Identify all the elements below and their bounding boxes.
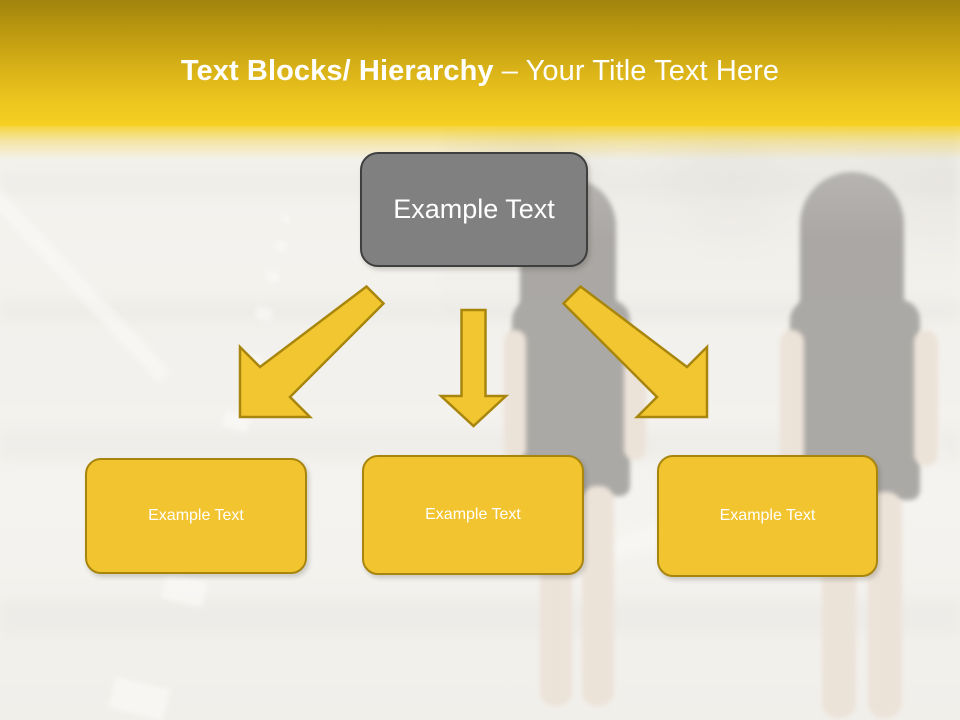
- page-title-light: – Your Title Text Here: [502, 55, 779, 87]
- hierarchy-root-node[interactable]: Example Text: [360, 152, 588, 267]
- hierarchy-child-label-3: Example Text: [720, 507, 816, 525]
- hierarchy-child-node-1[interactable]: Example Text: [85, 458, 307, 574]
- hierarchy-child-node-2[interactable]: Example Text: [362, 455, 584, 575]
- hierarchy-root-label: Example Text: [393, 194, 555, 225]
- hierarchy-child-label-2: Example Text: [425, 506, 521, 524]
- slide-canvas: Text Blocks/ Hierarchy – Your Title Text…: [0, 0, 960, 720]
- page-title: Text Blocks/ Hierarchy – Your Title Text…: [0, 53, 960, 89]
- hierarchy-child-node-3[interactable]: Example Text: [657, 455, 878, 577]
- page-title-bold: Text Blocks/ Hierarchy: [181, 55, 502, 87]
- hierarchy-child-label-1: Example Text: [148, 507, 244, 525]
